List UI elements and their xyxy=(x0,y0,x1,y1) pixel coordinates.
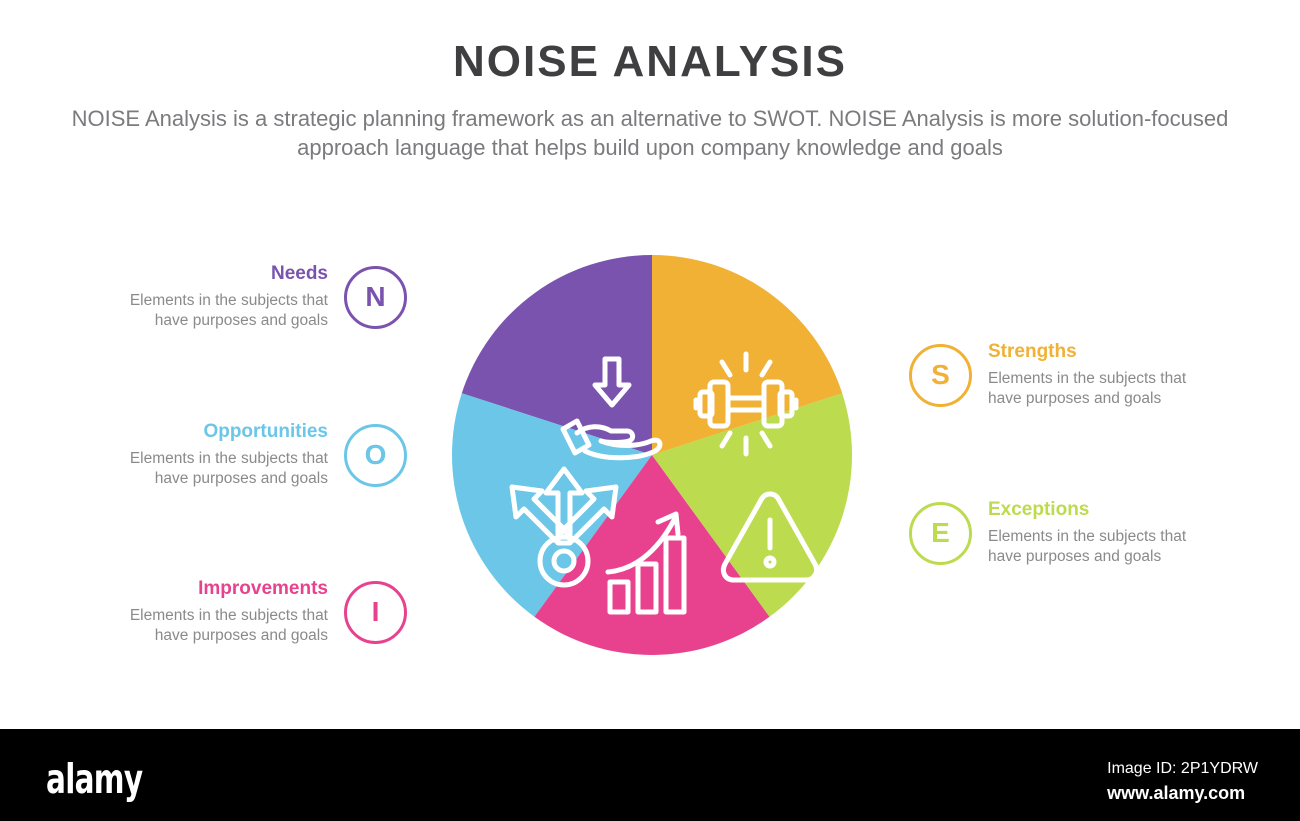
item-exceptions-description: Elements in the subjects that have purpo… xyxy=(988,527,1220,568)
image-id-label: Image ID: 2P1YDRW xyxy=(1107,757,1258,780)
alamy-watermark-bar: alamy Image ID: 2P1YDRW www.alamy.com xyxy=(0,729,1300,821)
badge-opportunities[interactable]: O xyxy=(344,424,407,487)
badge-needs[interactable]: N xyxy=(344,266,407,329)
item-strengths-text: Strengths Elements in the subjects that … xyxy=(988,341,1220,410)
item-strengths-heading: Strengths xyxy=(988,341,1077,364)
item-opportunities-text: Opportunities Elements in the subjects t… xyxy=(96,421,328,490)
item-exceptions-text: Exceptions Elements in the subjects that… xyxy=(988,499,1220,568)
item-needs-description: Elements in the subjects that have purpo… xyxy=(96,291,328,332)
item-exceptions-heading: Exceptions xyxy=(988,499,1089,522)
item-needs-heading: Needs xyxy=(271,263,328,286)
alamy-logo: alamy xyxy=(46,755,142,803)
footer-meta: Image ID: 2P1YDRW www.alamy.com xyxy=(1107,757,1258,806)
badge-opportunities-letter: O xyxy=(365,441,387,469)
badge-exceptions[interactable]: E xyxy=(909,502,972,565)
item-needs[interactable]: Needs Elements in the subjects that have… xyxy=(96,263,407,332)
item-opportunities-description: Elements in the subjects that have purpo… xyxy=(96,449,328,490)
infographic-page: NOISE ANALYSIS NOISE Analysis is a strat… xyxy=(0,0,1300,821)
item-improvements-text: Improvements Elements in the subjects th… xyxy=(96,578,328,647)
item-improvements-heading: Improvements xyxy=(198,578,328,601)
item-opportunities[interactable]: Opportunities Elements in the subjects t… xyxy=(96,421,407,490)
item-exceptions[interactable]: E Exceptions Elements in the subjects th… xyxy=(909,499,1220,568)
item-improvements-description: Elements in the subjects that have purpo… xyxy=(96,606,328,647)
badge-strengths[interactable]: S xyxy=(909,344,972,407)
item-opportunities-heading: Opportunities xyxy=(203,421,328,444)
header: NOISE ANALYSIS NOISE Analysis is a strat… xyxy=(0,0,1300,162)
page-subtitle: NOISE Analysis is a strategic planning f… xyxy=(70,104,1230,162)
badge-strengths-letter: S xyxy=(931,361,950,389)
alamy-url: www.alamy.com xyxy=(1107,780,1258,806)
badge-exceptions-letter: E xyxy=(931,519,950,547)
item-strengths[interactable]: S Strengths Elements in the subjects tha… xyxy=(909,341,1220,410)
pie-svg xyxy=(452,252,852,658)
badge-improvements[interactable]: I xyxy=(344,581,407,644)
item-strengths-description: Elements in the subjects that have purpo… xyxy=(988,369,1220,410)
badge-needs-letter: N xyxy=(365,283,385,311)
page-title: NOISE ANALYSIS xyxy=(0,38,1300,86)
item-needs-text: Needs Elements in the subjects that have… xyxy=(96,263,328,332)
item-improvements[interactable]: Improvements Elements in the subjects th… xyxy=(96,578,407,647)
badge-improvements-letter: I xyxy=(372,598,380,626)
noise-pie-chart xyxy=(452,252,852,658)
